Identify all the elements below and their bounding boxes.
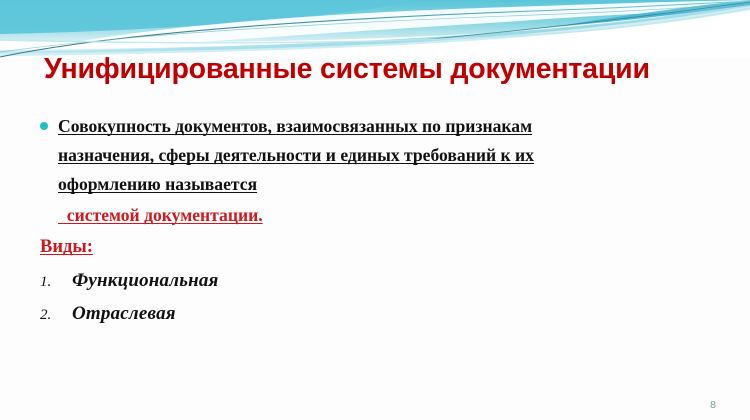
list-item: 1. Функциональная <box>40 265 720 298</box>
list-item-label: Функциональная <box>72 265 219 296</box>
page-number: 8 <box>710 399 716 411</box>
bullet-paragraph-text: Совокупность документов, взаимосвязанных… <box>58 112 720 199</box>
kinds-heading: Виды: <box>36 233 720 261</box>
list-item-number: 1. <box>40 267 72 298</box>
kinds-heading-text: Виды: <box>40 237 93 257</box>
list-item: 2. Отраслевая <box>40 298 720 331</box>
list-item-label: Отраслевая <box>72 298 176 329</box>
bullet-dot-icon <box>40 122 48 130</box>
bullet-line-1: Совокупность документов, взаимосвязанных… <box>58 112 720 141</box>
definition-term-line: системой документации. <box>36 200 720 230</box>
bullet-line-3: оформлению называется <box>58 170 720 199</box>
wave-banner <box>0 0 750 58</box>
slide-title: Унифицированные системы документации <box>44 52 724 86</box>
definition-term: системой документации. <box>58 205 263 225</box>
bullet-paragraph: Совокупность документов, взаимосвязанных… <box>36 112 720 199</box>
slide-body: Совокупность документов, взаимосвязанных… <box>36 112 720 331</box>
bullet-line-2: назначения, сферы деятельности и единых … <box>58 141 720 170</box>
list-item-number: 2. <box>40 300 72 331</box>
presentation-slide: Унифицированные системы документации Сов… <box>0 0 750 420</box>
kinds-list: 1. Функциональная 2. Отраслевая <box>36 265 720 331</box>
